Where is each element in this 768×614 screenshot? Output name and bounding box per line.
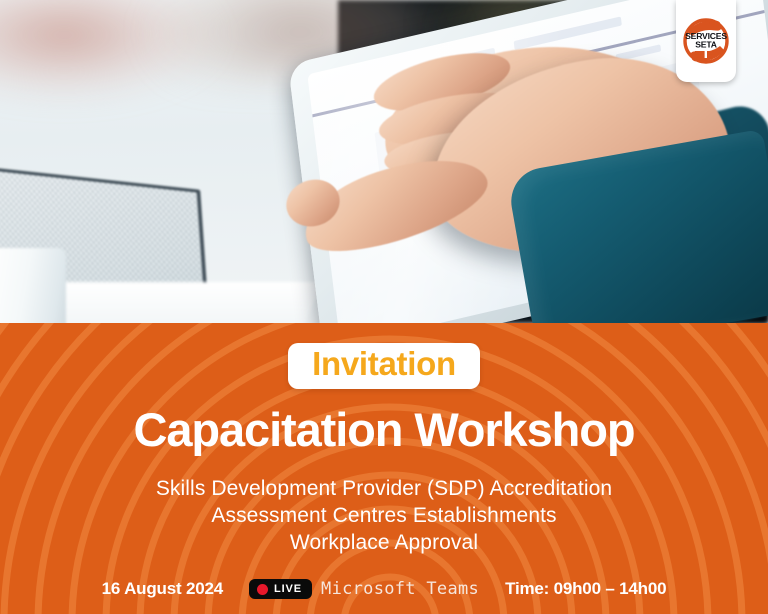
subtitle-list: Skills Development Provider (SDP) Accred… xyxy=(156,475,612,556)
services-seta-logo-card: SERVICES SETA xyxy=(676,0,736,82)
live-dot-icon xyxy=(257,584,268,595)
event-time: Time: 09h00 – 14h00 xyxy=(505,579,666,599)
orange-banner: Invitation Capacitation Workshop Skills … xyxy=(0,323,768,614)
event-platform: LIVE Microsoft Teams xyxy=(249,579,479,599)
invitation-poster: SERVICES SETA xyxy=(0,0,768,614)
logo-text-seta: SETA xyxy=(695,39,716,49)
hero-photo xyxy=(0,0,768,323)
platform-name: Microsoft Teams xyxy=(321,579,479,599)
subtitle-line: Workplace Approval xyxy=(156,529,612,556)
coffee-mug xyxy=(0,248,66,323)
live-badge: LIVE xyxy=(249,579,312,599)
subtitle-line: Assessment Centres Establishments xyxy=(156,502,612,529)
invitation-badge-label: Invitation xyxy=(312,346,456,382)
event-details-bar: 16 August 2024 LIVE Microsoft Teams Time… xyxy=(0,579,768,599)
services-seta-logo-icon: SERVICES SETA xyxy=(680,10,732,72)
subtitle-line: Skills Development Provider (SDP) Accred… xyxy=(156,475,612,502)
live-badge-label: LIVE xyxy=(274,583,302,595)
invitation-badge: Invitation xyxy=(288,343,480,389)
event-date: 16 August 2024 xyxy=(102,579,223,599)
page-title: Capacitation Workshop xyxy=(134,405,635,454)
